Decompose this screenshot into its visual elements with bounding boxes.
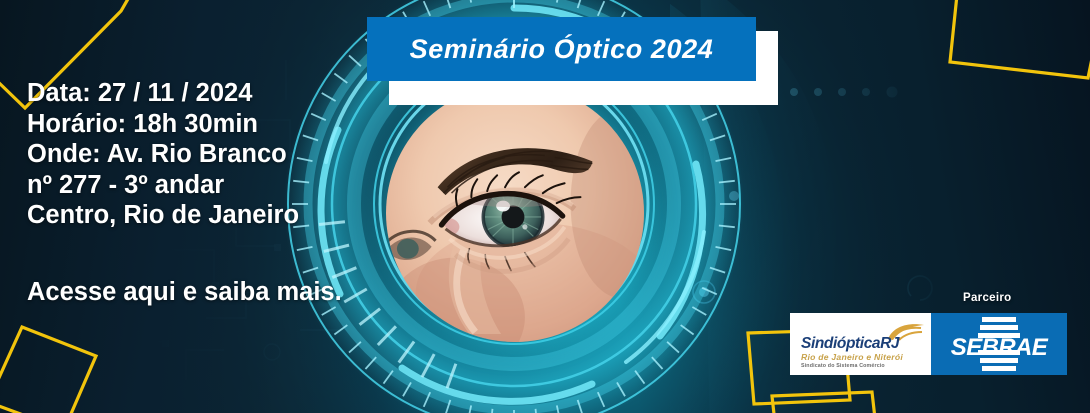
partner-logos: SindiópticaRJ Rio de Janeiro e Niterói S… [790,313,1067,375]
sebrae-logo[interactable]: SEBRAE [931,313,1067,375]
title-banner: Seminário Óptico 2024 [367,17,761,95]
detail-line-city: Centro, Rio de Janeiro [27,200,372,231]
detail-line-number: nº 277 - 3º andar [27,170,372,201]
detail-line-time: Horário: 18h 30min [27,109,372,140]
sebrae-name: SEBRAE [942,334,1056,362]
page-title: Seminário Óptico 2024 [410,34,714,65]
sindioptica-name: SindiópticaRJ [801,335,899,353]
sindioptica-logo[interactable]: SindiópticaRJ Rio de Janeiro e Niterói S… [790,313,931,375]
event-banner: Seminário Óptico 2024 Data: 27 / 11 / 20… [0,0,1090,413]
sindioptica-word: Sindióptica [801,335,880,352]
detail-line-address: Onde: Av. Rio Branco [27,139,372,170]
sindioptica-state: RJ [880,335,899,352]
sindioptica-tagline: Sindicato do Sistema Comércio [801,363,885,369]
sindioptica-subtitle: Rio de Janeiro e Niterói [801,352,903,362]
eye-photo [386,84,644,342]
cta-link[interactable]: Acesse aqui e saiba mais. [27,278,342,307]
event-details: Data: 27 / 11 / 2024 Horário: 18h 30min … [27,78,372,231]
title-box: Seminário Óptico 2024 [367,17,756,81]
partner-label: Parceiro [963,292,1011,304]
detail-line-date: Data: 27 / 11 / 2024 [27,78,372,109]
